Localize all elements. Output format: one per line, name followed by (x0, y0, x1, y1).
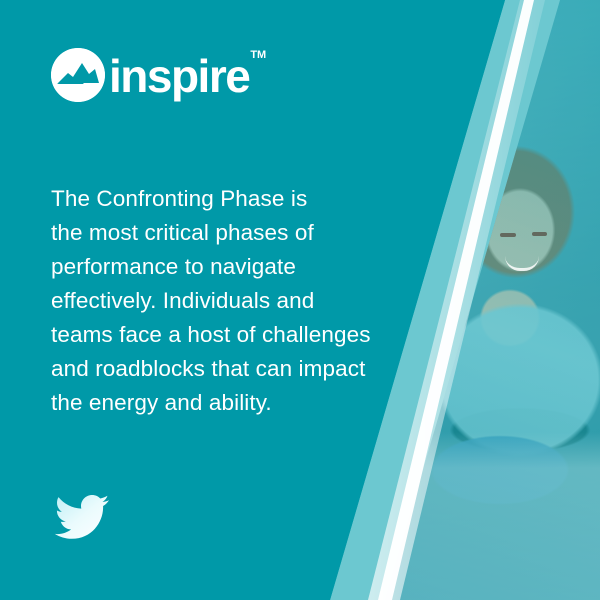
trademark-symbol: TM (250, 49, 266, 61)
twitter-link[interactable] (54, 493, 110, 543)
message-line: and roadblocks that can impact (51, 352, 401, 386)
message-paragraph: The Confronting Phase is the most critic… (51, 182, 401, 420)
message-line: performance to navigate (51, 250, 401, 284)
message-line: teams face a host of challenges (51, 318, 401, 352)
message-line: effectively. Individuals and (51, 284, 401, 318)
brand-logo[interactable]: inspire TM (51, 48, 265, 102)
social-media-card: inspire TM The Confronting Phase is the … (0, 0, 600, 600)
twitter-bird-icon (54, 493, 110, 543)
message-line: the most critical phases of (51, 216, 401, 250)
message-line: the energy and ability. (51, 386, 401, 420)
message-line: The Confronting Phase is (51, 182, 401, 216)
card-content: inspire TM The Confronting Phase is the … (0, 0, 600, 600)
mountain-circle-icon (51, 48, 105, 102)
brand-wordmark: inspire (109, 53, 249, 99)
